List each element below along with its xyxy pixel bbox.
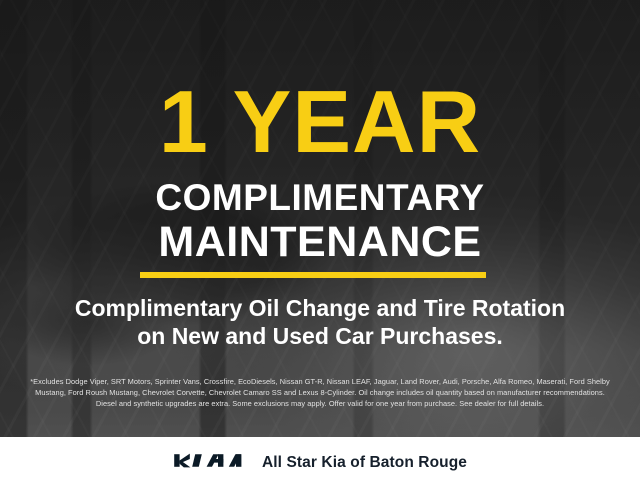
offer-description-line-1: Complimentary Oil Change and Tire Rotati… xyxy=(0,294,640,323)
kia-logo xyxy=(173,450,245,476)
disclaimer-line-1: *Excludes Dodge Viper, SRT Motors, Sprin… xyxy=(14,376,626,387)
disclaimer-line-3: Diesel and synthetic upgrades are extra.… xyxy=(14,398,626,409)
disclaimer-fine-print: *Excludes Dodge Viper, SRT Motors, Sprin… xyxy=(14,376,626,410)
promotional-banner: 1 YEAR COMPLIMENTARY MAINTENANCE Complim… xyxy=(0,0,640,488)
banner-content: 1 YEAR COMPLIMENTARY MAINTENANCE Complim… xyxy=(0,0,640,488)
headline-complimentary: COMPLIMENTARY xyxy=(0,178,640,218)
yellow-divider-bar xyxy=(140,272,486,278)
banner-footer: All Star Kia of Baton Rouge xyxy=(0,437,640,488)
offer-description-line-2: on New and Used Car Purchases. xyxy=(0,322,640,351)
headline-year: 1 YEAR xyxy=(0,78,640,166)
headline-maintenance: MAINTENANCE xyxy=(0,222,640,262)
disclaimer-line-2: Mustang, Ford Roush Mustang, Chevrolet C… xyxy=(14,387,626,398)
dealer-name: All Star Kia of Baton Rouge xyxy=(262,454,467,472)
